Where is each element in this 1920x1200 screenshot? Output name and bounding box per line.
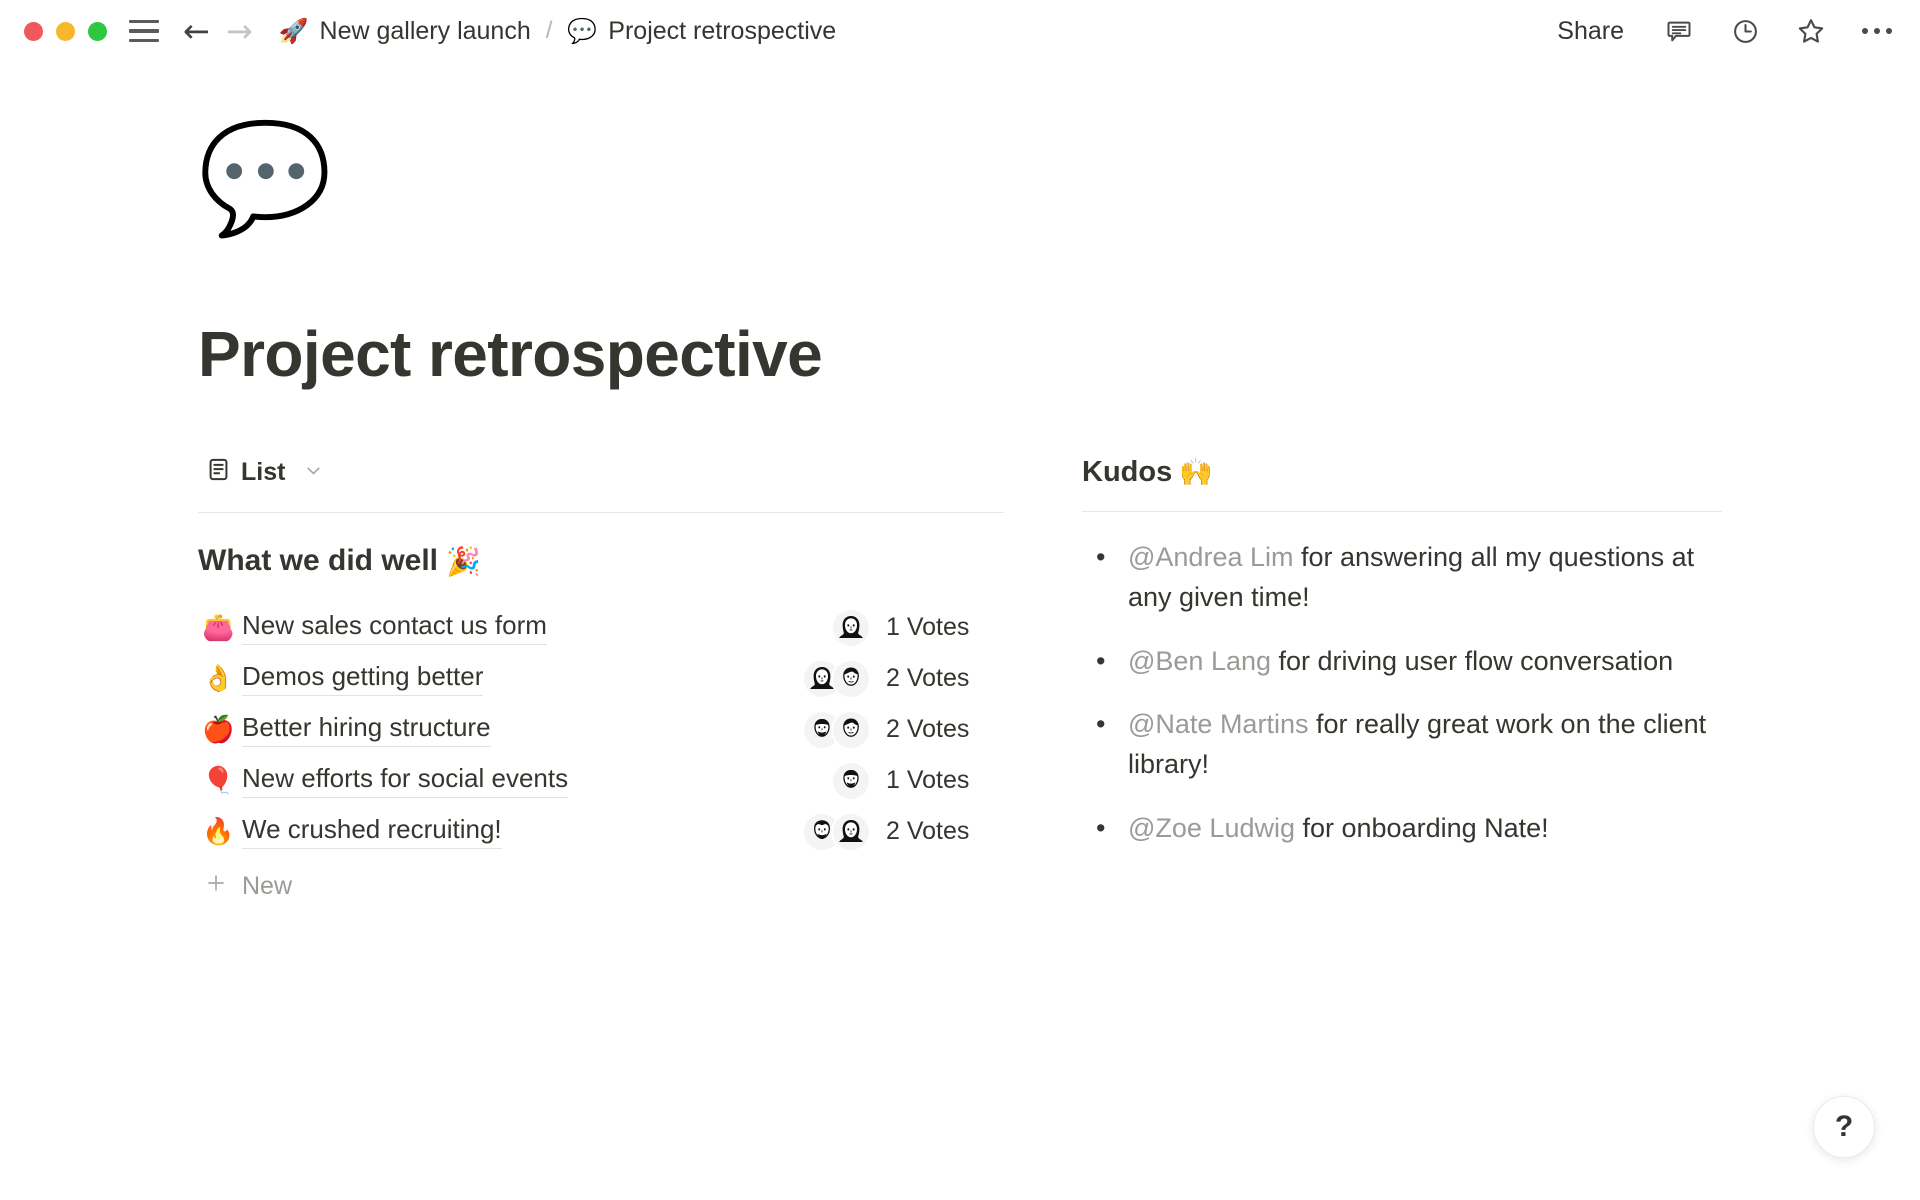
page-title[interactable]: Project retrospective — [198, 319, 1920, 389]
list-item[interactable]: • @Zoe Ludwig for onboarding Nate! — [1082, 809, 1722, 849]
avatar-group[interactable] — [783, 661, 869, 697]
vote-count: 2 Votes — [886, 817, 998, 846]
clock-icon[interactable] — [1728, 14, 1762, 48]
breadcrumb-item-current[interactable]: 💬 Project retrospective — [563, 15, 840, 48]
rocket-icon: 🚀 — [279, 19, 309, 43]
plus-icon — [204, 871, 228, 901]
kudos-body: for onboarding Nate! — [1295, 813, 1549, 843]
breadcrumb: 🚀 New gallery launch / 💬 Project retrosp… — [275, 15, 841, 48]
mention-link[interactable]: @Ben Lang — [1128, 646, 1271, 676]
list-rows: 👛 New sales contact us form 1 Votes 👌 — [198, 602, 1004, 857]
topbar-actions: Share — [1551, 14, 1894, 48]
view-label: List — [241, 458, 285, 487]
help-button[interactable]: ? — [1813, 1096, 1875, 1158]
list-item[interactable]: • @Andrea Lim for answering all my quest… — [1082, 538, 1722, 617]
list-item-meta: 2 Votes — [783, 814, 998, 850]
list-item[interactable]: 👌 Demos getting better 2 Votes — [198, 653, 1004, 704]
list-item-meta: 2 Votes — [783, 712, 998, 748]
mention-link[interactable]: @Zoe Ludwig — [1128, 813, 1295, 843]
share-button[interactable]: Share — [1551, 15, 1630, 48]
kudos-heading-label: Kudos — [1082, 456, 1172, 489]
kudos-text: @Andrea Lim for answering all my questio… — [1128, 538, 1722, 617]
bullet-icon: • — [1082, 642, 1128, 682]
avatar-group[interactable] — [783, 610, 869, 646]
forward-arrow-icon[interactable]: → — [226, 15, 253, 47]
more-options-icon[interactable] — [1860, 14, 1894, 48]
breadcrumb-current-label: Project retrospective — [608, 17, 836, 46]
avatar[interactable] — [833, 712, 869, 748]
apple-icon: 🍎 — [202, 717, 242, 743]
list-item-meta: 1 Votes — [783, 763, 998, 799]
balloon-icon: 🎈 — [202, 768, 242, 794]
window-maximize-button[interactable] — [88, 22, 107, 41]
kudos-text: @Zoe Ludwig for onboarding Nate! — [1128, 809, 1722, 849]
kudos-text: @Ben Lang for driving user flow conversa… — [1128, 642, 1722, 682]
back-arrow-icon[interactable]: ← — [183, 15, 210, 47]
vote-count: 2 Votes — [886, 715, 998, 744]
avatar[interactable] — [833, 661, 869, 697]
tab-list-view[interactable]: List — [202, 455, 289, 489]
hamburger-menu-icon[interactable] — [129, 20, 159, 42]
add-new-item-button[interactable]: New — [198, 871, 1004, 901]
content-columns: List What we did well 🎉 👛 New sales cont… — [198, 455, 1920, 901]
list-item[interactable]: 🍎 Better hiring structure 2 Votes — [198, 704, 1004, 755]
list-item-title[interactable]: New efforts for social events — [242, 763, 568, 798]
list-item-title[interactable]: New sales contact us form — [242, 610, 547, 645]
list-section-heading-label: What we did well — [198, 544, 438, 578]
window-minimize-button[interactable] — [56, 22, 75, 41]
breadcrumb-parent-label: New gallery launch — [320, 17, 531, 46]
list-item[interactable]: 🎈 New efforts for social events 1 Votes — [198, 755, 1004, 806]
mention-link[interactable]: @Nate Martins — [1128, 709, 1308, 739]
bullet-icon: • — [1082, 705, 1128, 784]
kudos-divider — [1082, 511, 1722, 512]
add-new-item-label: New — [242, 872, 292, 901]
fire-icon: 🔥 — [202, 819, 242, 845]
list-item-meta: 1 Votes — [783, 610, 998, 646]
speech-balloon-icon: 💬 — [567, 19, 597, 43]
window-close-button[interactable] — [24, 22, 43, 41]
vote-count: 1 Votes — [886, 613, 998, 642]
breadcrumb-item-parent[interactable]: 🚀 New gallery launch — [275, 15, 535, 48]
bullet-icon: • — [1082, 538, 1128, 617]
list-item[interactable]: • @Ben Lang for driving user flow conver… — [1082, 642, 1722, 682]
left-column: List What we did well 🎉 👛 New sales cont… — [198, 455, 1004, 901]
kudos-body: for driving user flow conversation — [1271, 646, 1673, 676]
list-item-title[interactable]: Better hiring structure — [242, 712, 491, 747]
breadcrumb-separator: / — [546, 17, 553, 45]
ok-hand-icon: 👌 — [202, 666, 242, 692]
list-item-title[interactable]: We crushed recruiting! — [242, 814, 502, 849]
vote-count: 2 Votes — [886, 664, 998, 693]
page-icon-speech-balloon[interactable]: 💬 — [198, 117, 1920, 257]
bullet-icon: • — [1082, 809, 1128, 849]
party-popper-icon: 🎉 — [446, 545, 481, 578]
list-item-title[interactable]: Demos getting better — [242, 661, 483, 696]
page-content: 💬 Project retrospective List — [0, 62, 1920, 901]
list-item[interactable]: 👛 New sales contact us form 1 Votes — [198, 602, 1004, 653]
raising-hands-icon: 🙌 — [1179, 456, 1213, 488]
window-controls — [24, 22, 107, 41]
view-switcher: List — [198, 455, 1004, 489]
star-icon[interactable] — [1794, 14, 1828, 48]
purse-icon: 👛 — [202, 615, 242, 641]
list-section-heading: What we did well 🎉 — [198, 544, 1004, 578]
list-item[interactable]: 🔥 We crushed recruiting! 2 Votes — [198, 806, 1004, 857]
list-item[interactable]: • @Nate Martins for really great work on… — [1082, 705, 1722, 784]
vote-count: 1 Votes — [886, 766, 998, 795]
list-item-meta: 2 Votes — [783, 661, 998, 697]
navigation-arrows: ← → — [183, 15, 253, 47]
chevron-down-icon[interactable] — [303, 460, 324, 485]
avatar[interactable] — [833, 610, 869, 646]
kudos-heading: Kudos 🙌 — [1082, 455, 1722, 489]
avatar-group[interactable] — [783, 712, 869, 748]
avatar-group[interactable] — [783, 814, 869, 850]
avatar[interactable] — [833, 763, 869, 799]
mention-link[interactable]: @Andrea Lim — [1128, 542, 1293, 572]
avatar-group[interactable] — [783, 763, 869, 799]
kudos-list: • @Andrea Lim for answering all my quest… — [1082, 538, 1722, 848]
avatar[interactable] — [833, 814, 869, 850]
list-view-icon — [206, 457, 231, 487]
kudos-text: @Nate Martins for really great work on t… — [1128, 705, 1722, 784]
window-topbar: ← → 🚀 New gallery launch / 💬 Project ret… — [0, 0, 1920, 62]
comment-icon[interactable] — [1662, 14, 1696, 48]
view-divider — [198, 512, 1004, 513]
right-column: Kudos 🙌 • @Andrea Lim for answering all … — [1082, 455, 1722, 901]
